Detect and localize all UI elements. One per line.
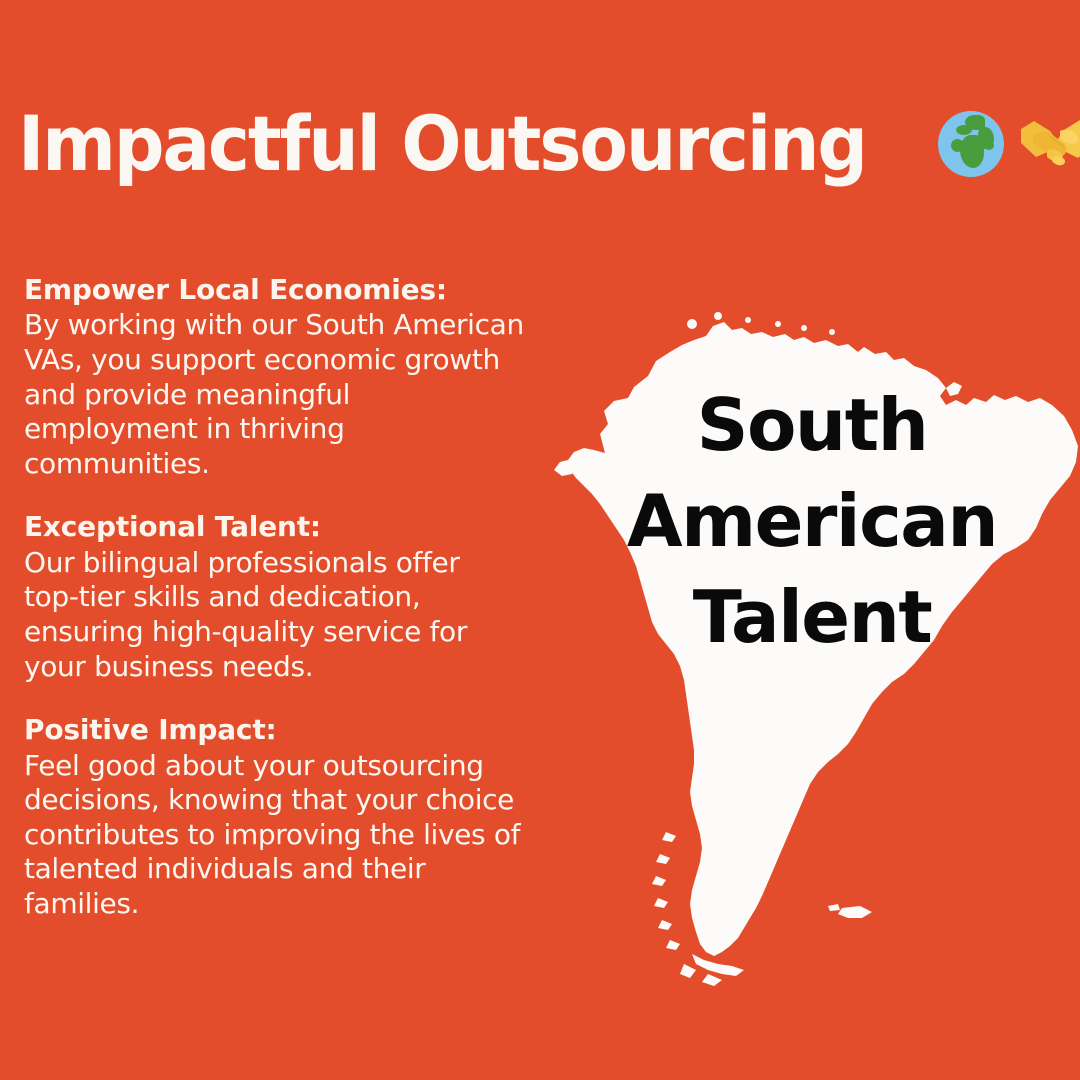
- benefit-body: Our bilingual professionals offer top-ti…: [24, 546, 580, 684]
- benefit-heading: Exceptional Talent:: [24, 511, 580, 543]
- benefit-block-exceptional-talent: Exceptional Talent: Our bilingual profes…: [24, 511, 580, 684]
- benefits-list: Empower Local Economies: By working with…: [24, 274, 580, 922]
- benefit-body: By working with our South American VAs, …: [24, 308, 580, 481]
- page-title: Impactful Outsourcing: [18, 94, 1058, 194]
- benefit-block-empower-local-economies: Empower Local Economies: By working with…: [24, 274, 580, 481]
- poster-canvas: Impactful Outsourcing: [0, 0, 1080, 1080]
- handshake-icon: [1018, 113, 1080, 176]
- globe-showing-europe-africa-icon: [938, 111, 1004, 177]
- page-title-text: Impactful Outsourcing: [18, 106, 866, 182]
- map-label: South American Talent: [600, 378, 1024, 665]
- benefit-heading: Empower Local Economies:: [24, 274, 580, 306]
- benefit-heading: Positive Impact:: [24, 714, 580, 746]
- benefit-body: Feel good about your outsourcing decisio…: [24, 749, 580, 922]
- south-america-map: South American Talent: [542, 248, 1080, 986]
- benefit-block-positive-impact: Positive Impact: Feel good about your ou…: [24, 714, 580, 921]
